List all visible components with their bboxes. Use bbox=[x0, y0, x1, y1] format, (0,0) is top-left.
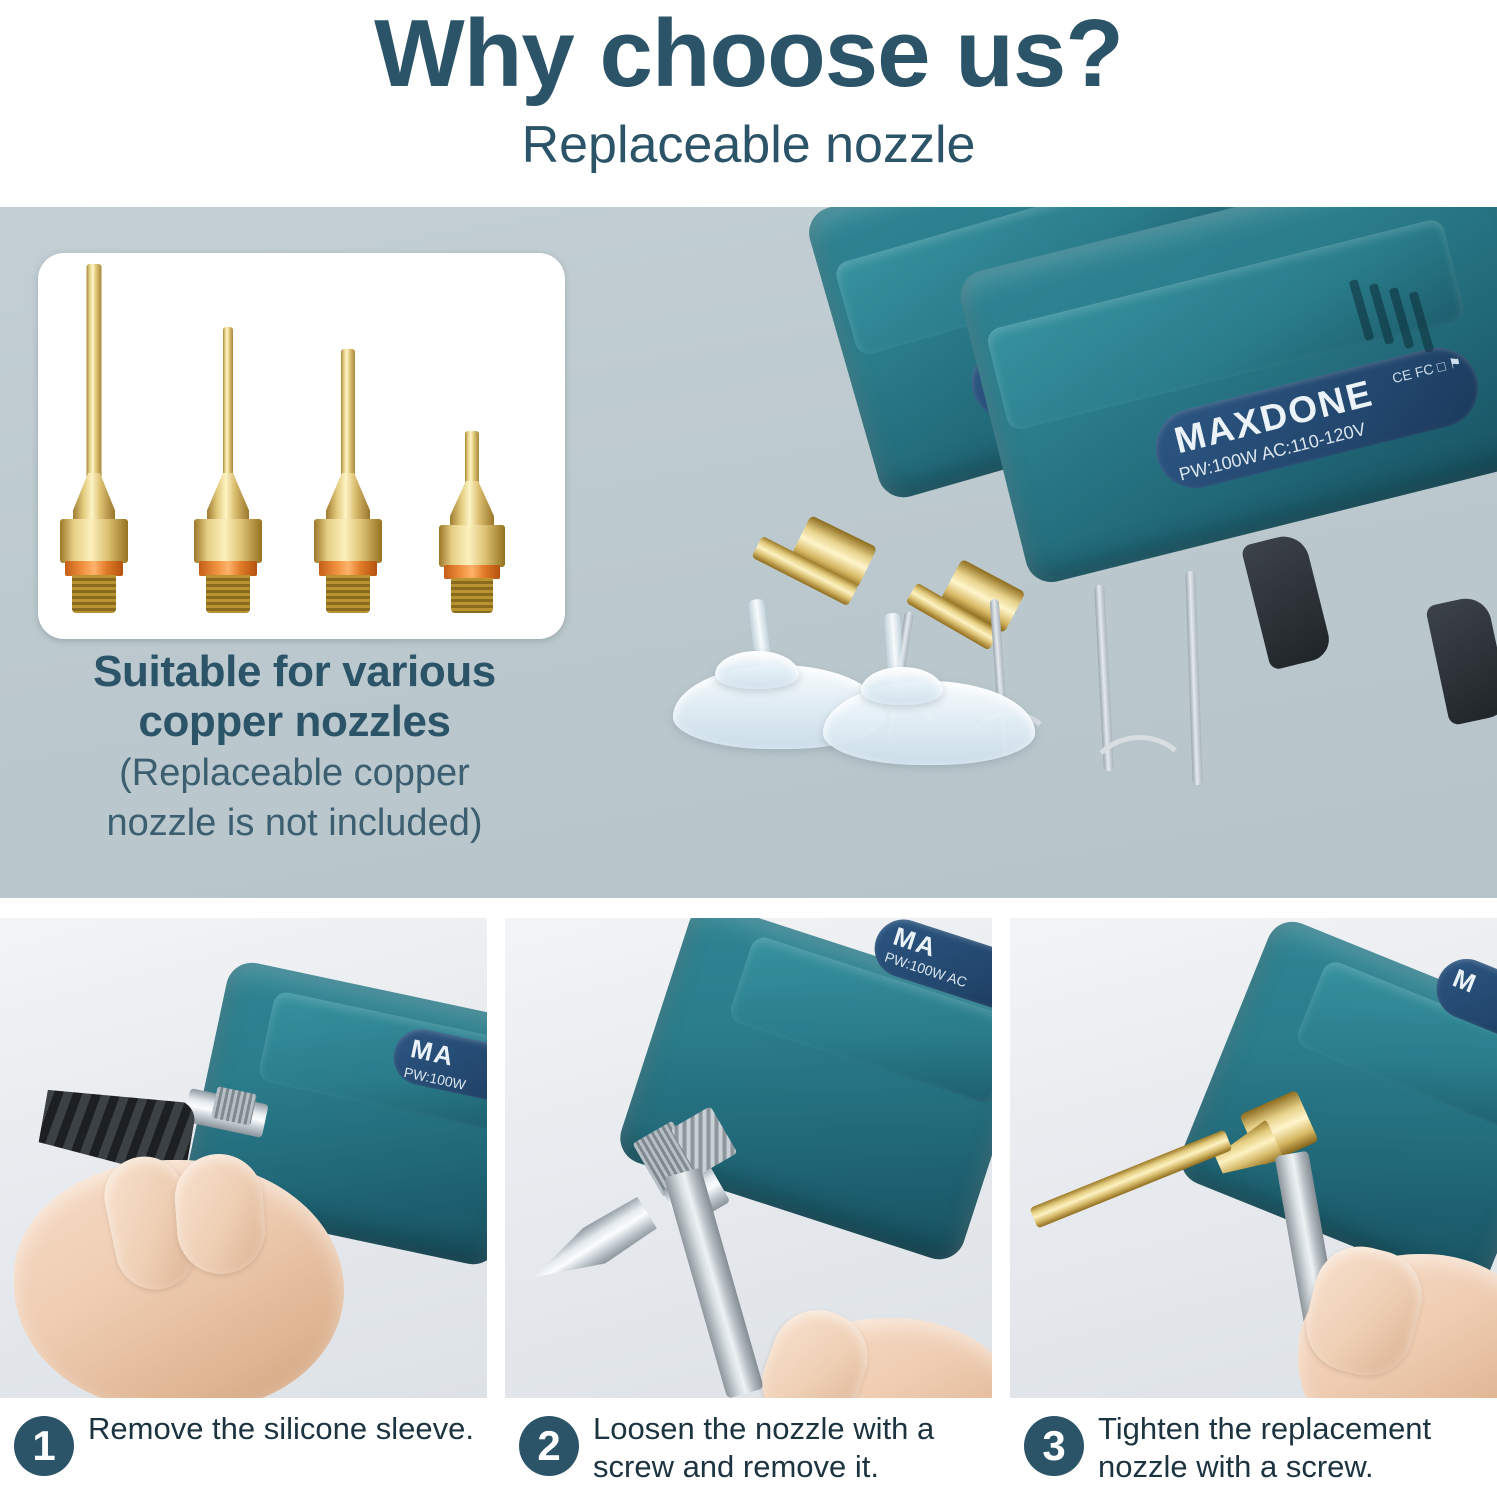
step-2-photo: MA PW:100W AC bbox=[505, 918, 992, 1398]
step-2-caption: 2 Loosen the nozzle with a screw and rem… bbox=[505, 1412, 992, 1496]
step-3-number-badge: 3 bbox=[1024, 1416, 1084, 1476]
hero-note-line2: nozzle is not included) bbox=[22, 802, 567, 846]
page-title: Why choose us? bbox=[0, 4, 1497, 105]
page-subtitle: Replaceable nozzle bbox=[0, 118, 1497, 173]
step-1-photo: MA PW:100W bbox=[0, 918, 487, 1398]
step-1-number-badge: 1 bbox=[14, 1416, 74, 1476]
step-2: MA PW:100W AC 2 Loosen the nozzle with a… bbox=[505, 918, 992, 1496]
header: Why choose us? Replaceable nozzle bbox=[0, 0, 1497, 207]
step-2-caption-text: Loosen the nozzle with a screw and remov… bbox=[593, 1410, 988, 1487]
step-1: MA PW:100W 1 Remove the silicone sleeve. bbox=[0, 918, 487, 1496]
hero-copy: Suitable for various copper nozzles (Rep… bbox=[22, 647, 567, 846]
step-3-caption-text: Tighten the replacement nozzle with a sc… bbox=[1098, 1410, 1493, 1487]
hero-headline-line2: copper nozzles bbox=[22, 697, 567, 747]
step3-brand-text: M bbox=[1448, 963, 1482, 1001]
hero-headline-line1: Suitable for various bbox=[22, 647, 567, 697]
infographic-page: Why choose us? Replaceable nozzle bbox=[0, 0, 1497, 1500]
glue-puddle-top bbox=[715, 651, 799, 689]
stand-wire-leg bbox=[1185, 571, 1202, 785]
glue-gun-front-cert-text: CE FC □ ⚑ bbox=[1391, 354, 1464, 388]
glue-guns-photo: MAXDONE PW:100W AC:110-120V MAXDONE PW:1… bbox=[565, 207, 1497, 898]
hero-note-line1: (Replaceable copper bbox=[22, 752, 567, 796]
steps-row: MA PW:100W 1 Remove the silicone sleeve. bbox=[0, 898, 1497, 1500]
glue-gun-rear-trigger[interactable] bbox=[1240, 531, 1333, 671]
stand-wire-arc bbox=[1084, 733, 1195, 819]
step-3-photo: M bbox=[1010, 918, 1497, 1398]
step-1-caption: 1 Remove the silicone sleeve. bbox=[0, 1412, 487, 1496]
step2-nozzle-tip bbox=[526, 1195, 659, 1300]
hero-panel: Suitable for various copper nozzles (Rep… bbox=[0, 207, 1497, 898]
copper-nozzle-set-card bbox=[38, 253, 565, 639]
step-1-caption-text: Remove the silicone sleeve. bbox=[88, 1410, 483, 1448]
glue-gun-front-trigger[interactable] bbox=[1425, 594, 1497, 726]
step-3: M 3 Tighten the replacement nozzle with … bbox=[1010, 918, 1497, 1496]
step-3-caption: 3 Tighten the replacement nozzle with a … bbox=[1010, 1412, 1497, 1496]
step2-thumb bbox=[749, 1297, 880, 1398]
step-2-number-badge: 2 bbox=[519, 1416, 579, 1476]
glue-puddle-top bbox=[861, 667, 943, 705]
